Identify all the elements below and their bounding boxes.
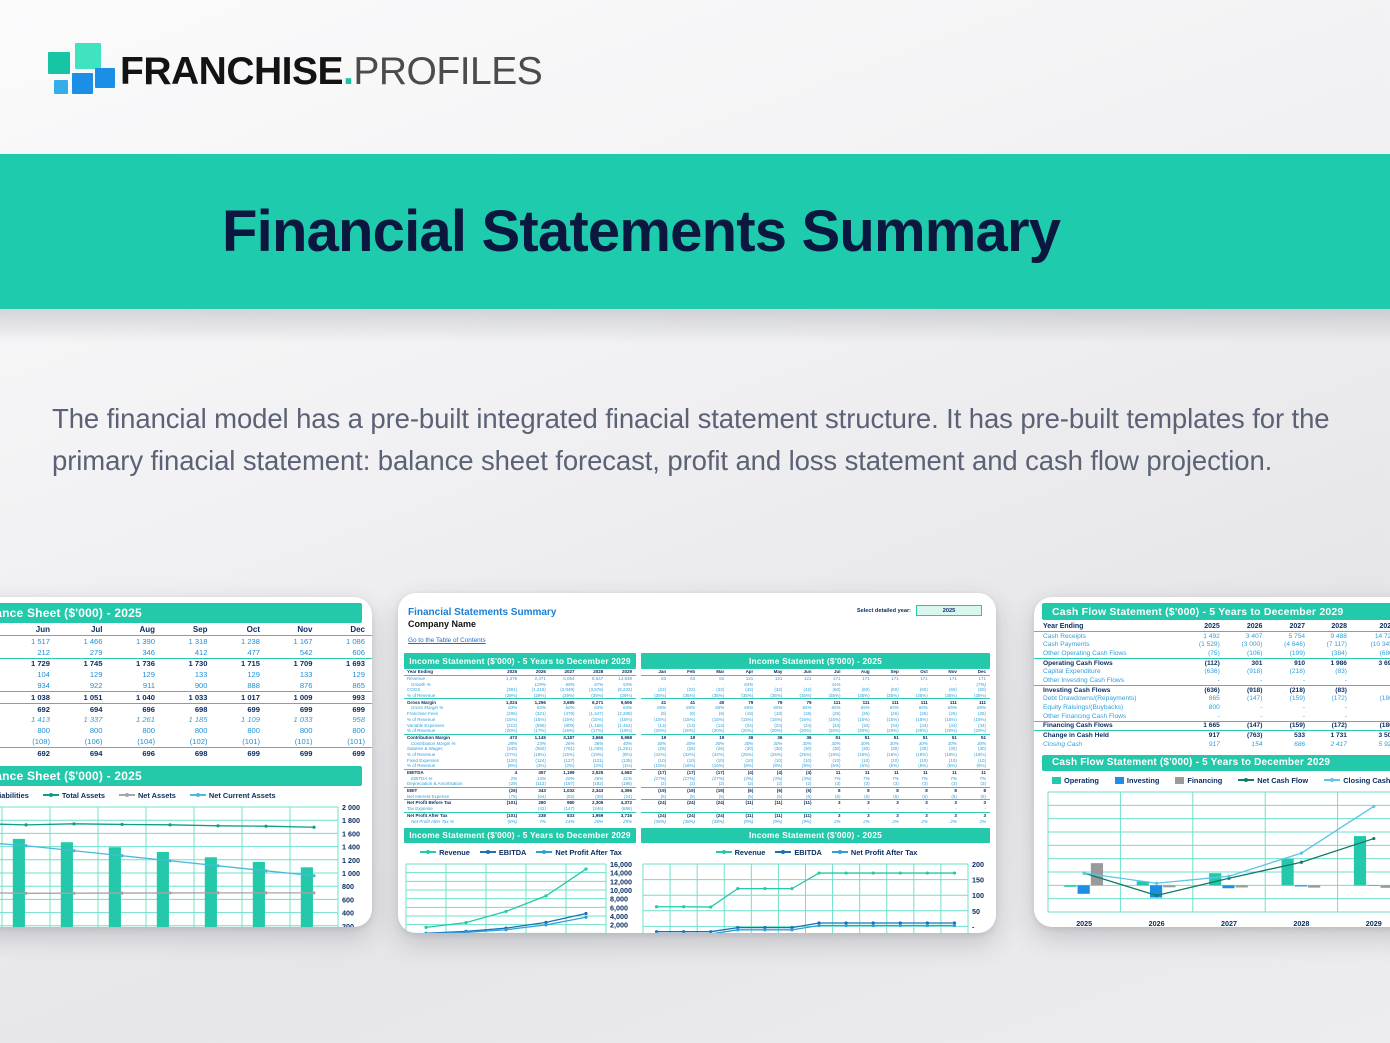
- legend-item: Financing: [1175, 776, 1222, 785]
- cell: (918): [1228, 685, 1271, 694]
- bs-cell: 922: [57, 680, 110, 691]
- brand-logo: FRANCHISE.PROFILES: [48, 42, 542, 100]
- balance-sheet-header-row: MayJunJulAugSepOctNovDec: [0, 625, 372, 636]
- cell: (384): [1313, 649, 1355, 658]
- bs-col-header: Dec: [320, 625, 373, 636]
- cell: -: [1270, 712, 1313, 721]
- bs-col-header: Aug: [110, 625, 163, 636]
- cell: Sep: [874, 669, 903, 676]
- row-label: Other Operating Cash Flows: [1034, 649, 1185, 658]
- bs-cell: 279: [57, 647, 110, 658]
- cell: 1 492: [1185, 631, 1228, 640]
- table-row: (38%)(38%)(38%)(9%)(9%)(9%)2%2%2%2%2%2%: [641, 818, 990, 824]
- bs-cell: 1 040: [110, 691, 163, 703]
- cell: 2%: [874, 818, 903, 824]
- table-row: 800800800800800800800800: [0, 725, 372, 736]
- table-row: (97)(108)(106)(104)(102)(101)(101)(101): [0, 736, 372, 747]
- table-row: Year Ending20252026202720282029Jan: [1034, 622, 1390, 631]
- bs-cell: 1 745: [57, 658, 110, 669]
- cell: (218): [1270, 667, 1313, 676]
- bs-cell: 104: [5, 669, 58, 680]
- legend-label: EBITDA: [794, 848, 822, 857]
- cell: 154: [1228, 740, 1271, 749]
- page-header: FRANCHISE.PROFILES: [0, 0, 1390, 150]
- cell: 2%: [961, 818, 990, 824]
- description-paragraph: The financial model has a pre-built inte…: [52, 398, 1342, 482]
- cell: May: [757, 669, 786, 676]
- year-selector[interactable]: Select detailed year: 2025: [857, 605, 982, 616]
- bs-cell: 694: [57, 747, 110, 758]
- income-statement-monthly-chart-band: Income Statement ($'000) - 2025: [641, 828, 990, 843]
- cell: Aug: [845, 669, 874, 676]
- cell: (3 000): [1228, 640, 1271, 649]
- table-row: JanFebMarAprMayJunJulAugSepOctNovDec: [641, 669, 990, 676]
- legend-label: Net Current Assets: [209, 791, 276, 800]
- bs-cell: 800: [215, 725, 268, 736]
- legend-line-icon: [190, 794, 206, 796]
- svg-text:400: 400: [342, 908, 354, 917]
- brand-name-light: PROFILES: [353, 50, 542, 93]
- cell: (9%): [757, 818, 786, 824]
- legend-label: Net Cash Flow: [1257, 776, 1308, 785]
- legend-item: Net Profit After Tax: [536, 848, 622, 857]
- cell: 14%: [550, 818, 579, 824]
- cell: (83): [1313, 667, 1355, 676]
- legend-item: Operating: [1052, 776, 1099, 785]
- cell: 686: [1270, 740, 1313, 749]
- income-statement-5yr-chart-legend: RevenueEBITDANet Profit After Tax: [404, 843, 636, 860]
- bs-cell: 800: [5, 725, 58, 736]
- svg-text:1 600: 1 600: [342, 829, 360, 838]
- cell: (112): [1185, 658, 1228, 667]
- bs-cell: (101): [215, 736, 268, 747]
- table-row: Debt Drawdowns/(Repayments)865(147)(159)…: [1034, 695, 1390, 704]
- bs-cell: 1 337: [57, 714, 110, 725]
- table-row: Net Profit After Tax %(8%)7%14%20%25%: [404, 818, 636, 824]
- cell: 2028: [1313, 622, 1355, 631]
- bs-cell: 1 730: [162, 658, 215, 669]
- table-row: Year Ending20252026202720282029: [404, 669, 636, 676]
- svg-text:1 400: 1 400: [342, 842, 360, 851]
- bs-cell: 133: [162, 669, 215, 680]
- cell: 20%: [579, 818, 608, 824]
- table-row: 703692694696698699699699: [0, 703, 372, 714]
- row-label: Year Ending: [404, 669, 496, 676]
- legend-label: EBITDA: [499, 848, 527, 857]
- cell: (7 117): [1313, 640, 1355, 649]
- cell: 2%: [815, 818, 844, 824]
- cell: -: [1355, 703, 1390, 712]
- cell: Jul: [815, 669, 844, 676]
- svg-text:200: 200: [972, 860, 984, 869]
- bs-cell: 133: [267, 669, 320, 680]
- cell: (38%): [670, 818, 699, 824]
- legend-label: Operating: [1064, 776, 1099, 785]
- cell: -: [1228, 712, 1271, 721]
- svg-text:150: 150: [972, 875, 984, 884]
- logo-squares-icon: [48, 42, 106, 100]
- legend-line-icon: [716, 851, 732, 853]
- bs-cell: 694: [57, 703, 110, 714]
- bs-cell: 865: [320, 680, 373, 691]
- table-row: 1 5711 5171 4661 3901 3181 2381 1671 086: [0, 636, 372, 647]
- is5-chart-svg: (2,000)-2,0004,0006,0008,00010,00012,000…: [404, 860, 636, 933]
- table-row: Other Financing Cash Flows------: [1034, 712, 1390, 721]
- legend-swatch-icon: [1115, 777, 1124, 784]
- bs-cell: 934: [5, 680, 58, 691]
- cell: 2029: [607, 669, 636, 676]
- cell: (636): [1185, 667, 1228, 676]
- bs-cell: 699: [267, 703, 320, 714]
- cell: 5 754: [1270, 631, 1313, 640]
- cell: -: [1228, 703, 1271, 712]
- bs-cell: 1 413: [5, 714, 58, 725]
- cash-flow-chart: (2 000)(1 000)-1 0002 0003 0004 0005 000…: [1034, 788, 1390, 927]
- bs-cell: 477: [215, 647, 268, 658]
- bs-cell: 699: [320, 747, 373, 758]
- row-label: Net Profit After Tax %: [404, 818, 496, 824]
- cell: Oct: [903, 669, 932, 676]
- cell: (159): [1270, 695, 1313, 704]
- legend-line-icon: [119, 794, 135, 796]
- bs-cell: (101): [320, 736, 373, 747]
- bs-cell: 1 017: [215, 691, 268, 703]
- screenshot-gallery: Balance Sheet ($'000) - 2025 MayJunJulAu…: [0, 575, 1390, 945]
- cell: (159): [1270, 721, 1313, 731]
- bs-cell: 1 715: [215, 658, 268, 669]
- cell: (680): [1355, 649, 1390, 658]
- legend-label: Total Assets: [62, 791, 105, 800]
- bs-cell: 900: [162, 680, 215, 691]
- svg-text:2 000: 2 000: [342, 803, 360, 812]
- legend-item: EBITDA: [480, 848, 527, 857]
- cell: (10 345): [1355, 640, 1390, 649]
- legend-label: Closing Cash: [1343, 776, 1390, 785]
- legend-item: Closing Cash: [1324, 776, 1390, 785]
- table-row: 703692694696698699699699: [0, 747, 372, 758]
- cell: (4 646): [1270, 640, 1313, 649]
- row-label: Change in Cash Held: [1034, 731, 1185, 740]
- bs-cell: 692: [5, 703, 58, 714]
- bs-cell: 696: [110, 747, 163, 758]
- year-selector-value[interactable]: 2025: [916, 605, 982, 616]
- bs-cell: (102): [162, 736, 215, 747]
- cell: 1 665: [1185, 721, 1228, 731]
- cell: 910: [1270, 658, 1313, 667]
- bs-cell: 876: [267, 680, 320, 691]
- cell: (147): [1228, 721, 1271, 731]
- svg-text:2029: 2029: [1366, 919, 1382, 927]
- cell: 2025: [1185, 622, 1228, 631]
- cell: (75): [1185, 649, 1228, 658]
- table-row: Capital Expenditure(636)(918)(218)(83)-(…: [1034, 667, 1390, 676]
- row-label: Cash Receipts: [1034, 631, 1185, 640]
- svg-text:50: 50: [972, 907, 980, 916]
- income-statement-5yr-table: Year Ending20252026202720282029Revenue1,…: [404, 668, 636, 824]
- cell: 14 720: [1355, 631, 1390, 640]
- bs-cell: 1 086: [320, 636, 373, 647]
- legend-item: Investing: [1115, 776, 1159, 785]
- table-row: Other Operating Cash Flows(75)(106)(199)…: [1034, 649, 1390, 658]
- table-row: Financing Cash Flows1 665(147)(159)(172)…: [1034, 721, 1390, 731]
- bs-col-header: Jun: [5, 625, 58, 636]
- table-row: Change in Cash Held917(763)5331 7313 508…: [1034, 731, 1390, 740]
- cell: -: [1313, 676, 1355, 685]
- table-row: Equity Raisings/(Buybacks)800----800: [1034, 703, 1390, 712]
- bs-col-header: Jul: [57, 625, 110, 636]
- cell: (147): [1228, 695, 1271, 704]
- legend-label: Net Assets: [138, 791, 176, 800]
- svg-text:100: 100: [972, 891, 984, 900]
- svg-text:2,000: 2,000: [610, 921, 628, 930]
- legend-item: Total Assets: [43, 791, 105, 800]
- cell: 2029: [1355, 622, 1390, 631]
- cash-flow-table: Year Ending20252026202720282029JanCash R…: [1034, 622, 1390, 749]
- bs-cell: 1 709: [267, 658, 320, 669]
- cell: (918): [1228, 667, 1271, 676]
- cell: 2028: [579, 669, 608, 676]
- table-row: 1 0451 0381 0511 0401 0331 0171 009993: [0, 691, 372, 703]
- balance-sheet-table: MayJunJulAugSepOctNovDec 1 5711 5171 466…: [0, 625, 372, 759]
- cell: 3 694: [1355, 658, 1390, 667]
- svg-text:2027: 2027: [1221, 919, 1237, 927]
- bs-cell: 412: [162, 647, 215, 658]
- balance-sheet-band-title: Balance Sheet ($'000) - 2025: [0, 603, 362, 623]
- legend-item: Net Cash Flow: [1238, 776, 1308, 785]
- cell: 2%: [932, 818, 961, 824]
- brand-name-bold: FRANCHISE: [120, 50, 343, 93]
- cell: (8%): [496, 818, 521, 824]
- row-label: Operating Cash Flows: [1034, 658, 1185, 667]
- bs-cell: 696: [110, 703, 163, 714]
- cell: -: [1313, 703, 1355, 712]
- cell: (763): [1228, 731, 1271, 740]
- bs-cell: 1 693: [320, 658, 373, 669]
- cell: 3 508: [1355, 731, 1390, 740]
- cell: -: [1185, 676, 1228, 685]
- row-label: Cash Payments: [1034, 640, 1185, 649]
- cell: (106): [1228, 649, 1271, 658]
- bs-cell: 1 736: [110, 658, 163, 669]
- income-statement-monthly-chart: (50)-50100150200JanFebMarAprMayJunJulAug…: [641, 860, 990, 933]
- legend-item: Revenue: [716, 848, 766, 857]
- balance-sheet-chart: -2004006008001 0001 2001 4001 6001 8002 …: [0, 803, 372, 927]
- bs-cell: 958: [320, 714, 373, 725]
- bs-col-header: Sep: [162, 625, 215, 636]
- bs-cell: 1 185: [162, 714, 215, 725]
- cell: -: [1270, 676, 1313, 685]
- table-row: Operating Cash Flows(112)3019101 9863 69…: [1034, 658, 1390, 667]
- row-label: Equity Raisings/(Buybacks): [1034, 703, 1185, 712]
- bs-cell: 1 318: [162, 636, 215, 647]
- cell: 2026: [521, 669, 550, 676]
- cell: 2%: [903, 818, 932, 824]
- bs-cell: 800: [110, 725, 163, 736]
- cell: 9 488: [1313, 631, 1355, 640]
- cell: Mar: [699, 669, 728, 676]
- cell: 2 417: [1313, 740, 1355, 749]
- cash-flow-chart-band-title: Cash Flow Statement ($'000) - 5 Years to…: [1042, 755, 1390, 771]
- legend-label: Investing: [1127, 776, 1159, 785]
- row-label: Year Ending: [1034, 622, 1185, 631]
- cell: (186): [1355, 695, 1390, 704]
- svg-text:1 000: 1 000: [342, 869, 360, 878]
- bs-cell: 129: [320, 669, 373, 680]
- cell: -: [1355, 685, 1390, 694]
- bs-cell: 1 517: [5, 636, 58, 647]
- legend-line-icon: [1238, 779, 1254, 781]
- cell: 2027: [550, 669, 579, 676]
- row-label: Debt Drawdowns/(Repayments): [1034, 695, 1185, 704]
- balance-sheet-screenshot-card[interactable]: Balance Sheet ($'000) - 2025 MayJunJulAu…: [0, 597, 372, 927]
- cash-flow-screenshot-card[interactable]: Cash Flow Statement ($'000) - 5 Years to…: [1034, 597, 1390, 927]
- cell: (186): [1355, 721, 1390, 731]
- legend-label: Net Profit After Tax: [851, 848, 918, 857]
- svg-text:8,000: 8,000: [610, 895, 628, 904]
- cell: -: [1355, 667, 1390, 676]
- svg-text:14,000: 14,000: [610, 869, 632, 878]
- bs-cell: 1 109: [215, 714, 268, 725]
- cell: 5 925: [1355, 740, 1390, 749]
- bs-cell: 542: [267, 647, 320, 658]
- bs-cell: 606: [320, 647, 373, 658]
- legend-label: Financing: [1187, 776, 1222, 785]
- cell: 301: [1228, 658, 1271, 667]
- svg-text:1 200: 1 200: [342, 855, 360, 864]
- brand-wordmark: FRANCHISE.PROFILES: [120, 52, 542, 91]
- bs-cell: (104): [110, 736, 163, 747]
- cell: 800: [1185, 703, 1228, 712]
- cell: 1 731: [1313, 731, 1355, 740]
- cell: (172): [1313, 695, 1355, 704]
- income-statement-monthly-table: JanFebMarAprMayJunJulAugSepOctNovDec6363…: [641, 668, 990, 824]
- bs-cell: 993: [320, 691, 373, 703]
- table-row: 178212279346412477542606: [0, 647, 372, 658]
- bs-cell: 129: [57, 669, 110, 680]
- cell: (9%): [786, 818, 815, 824]
- income-statement-5yr-chart: (2,000)-2,0004,0006,0008,00010,00012,000…: [404, 860, 636, 933]
- legend-label: Revenue: [735, 848, 766, 857]
- svg-text:10,000: 10,000: [610, 886, 632, 895]
- bs-cell: 1 238: [215, 636, 268, 647]
- bs-cell: 1 167: [267, 636, 320, 647]
- bs-cell: 699: [215, 703, 268, 714]
- legend-line-icon: [1324, 779, 1340, 781]
- cell: -: [1355, 676, 1390, 685]
- bs-cell: 129: [215, 669, 268, 680]
- cell: 2%: [845, 818, 874, 824]
- cell: -: [1355, 712, 1390, 721]
- bs-cell: 699: [320, 703, 373, 714]
- svg-text:2026: 2026: [1149, 919, 1165, 927]
- cell: (83): [1313, 685, 1355, 694]
- cell: Jun: [786, 669, 815, 676]
- income-statement-5yr-band: Income Statement ($'000) - 5 Years to De…: [404, 653, 636, 668]
- bs-cell: 699: [267, 747, 320, 758]
- cell: 1 986: [1313, 658, 1355, 667]
- bs-cell: (101): [267, 736, 320, 747]
- legend-line-icon: [832, 851, 848, 853]
- bs-cell: 1 261: [110, 714, 163, 725]
- cell: -: [1228, 676, 1271, 685]
- bs-cell: 800: [162, 725, 215, 736]
- table-row: Investing Cash Flows(636)(918)(218)(83)-…: [1034, 685, 1390, 694]
- balance-sheet-chart-band-title: Balance Sheet ($'000) - 2025: [0, 766, 362, 786]
- cell: Dec: [961, 669, 990, 676]
- bs-cell: 911: [110, 680, 163, 691]
- cell: (218): [1270, 685, 1313, 694]
- cell: (38%): [699, 818, 728, 824]
- cell: Feb: [670, 669, 699, 676]
- legend-line-icon: [536, 851, 552, 853]
- page-title: Financial Statements Summary: [222, 203, 1060, 261]
- legend-label: Net Profit After Tax: [555, 848, 622, 857]
- cell: 2027: [1270, 622, 1313, 631]
- table-row: Closing Cash9171546862 4175 9251 731: [1034, 740, 1390, 749]
- income-statement-5yr-chart-band: Income Statement ($'000) - 5 Years to De…: [404, 828, 636, 843]
- svg-text:2028: 2028: [1293, 919, 1309, 927]
- ism-chart-svg: (50)-50100150200JanFebMarAprMayJunJulAug…: [641, 860, 990, 933]
- legend-line-icon: [43, 794, 59, 796]
- svg-text:-: -: [972, 922, 975, 931]
- cell: Nov: [932, 669, 961, 676]
- bs-cell: 1 051: [57, 691, 110, 703]
- svg-text:800: 800: [342, 882, 354, 891]
- cell: Jan: [641, 669, 670, 676]
- legend-item: Net Profit After Tax: [832, 848, 918, 857]
- financial-summary-screenshot-card[interactable]: Financial Statements Summary Company Nam…: [398, 593, 996, 933]
- bs-cell: 1 038: [5, 691, 58, 703]
- table-of-contents-link[interactable]: Go to the Table of Contents: [398, 636, 486, 644]
- bs-cell: 698: [162, 747, 215, 758]
- cell: (199): [1270, 649, 1313, 658]
- cell: -: [1185, 712, 1228, 721]
- legend-item: Net Current Assets: [190, 791, 276, 800]
- cell: 2026: [1228, 622, 1271, 631]
- bs-cell: 1 729: [5, 658, 58, 669]
- svg-text:-: -: [610, 929, 613, 933]
- row-label: Financing Cash Flows: [1034, 721, 1185, 731]
- row-label: Other Financing Cash Flows: [1034, 712, 1185, 721]
- svg-text:12,000: 12,000: [610, 877, 632, 886]
- table-row: Cash Receipts1 4923 4075 7549 48814 7203…: [1034, 631, 1390, 640]
- bs-cell: 800: [267, 725, 320, 736]
- cell: (9%): [728, 818, 757, 824]
- cell: 865: [1185, 695, 1228, 704]
- bs-cell: 698: [162, 703, 215, 714]
- legend-item: Net Assets: [119, 791, 176, 800]
- income-statement-monthly-chart-legend: RevenueEBITDANet Profit After Tax: [641, 843, 990, 860]
- cell: 533: [1270, 731, 1313, 740]
- row-label: Other Investing Cash Flows: [1034, 676, 1185, 685]
- bs-cell: 692: [5, 747, 58, 758]
- svg-text:4,000: 4,000: [610, 912, 628, 921]
- cell: 917: [1185, 740, 1228, 749]
- bs-cell: 1 033: [267, 714, 320, 725]
- legend-line-icon: [420, 851, 436, 853]
- svg-text:2025: 2025: [1076, 919, 1092, 927]
- row-label: Capital Expenditure: [1034, 667, 1185, 676]
- cell: -: [1313, 712, 1355, 721]
- bs-cell: 888: [215, 680, 268, 691]
- legend-swatch-icon: [1052, 777, 1061, 784]
- cell: 25%: [607, 818, 636, 824]
- bs-cell: 346: [110, 647, 163, 658]
- cell: (636): [1185, 685, 1228, 694]
- row-label: Closing Cash: [1034, 740, 1185, 749]
- bs-cell: 129: [110, 669, 163, 680]
- bs-cell: 212: [5, 647, 58, 658]
